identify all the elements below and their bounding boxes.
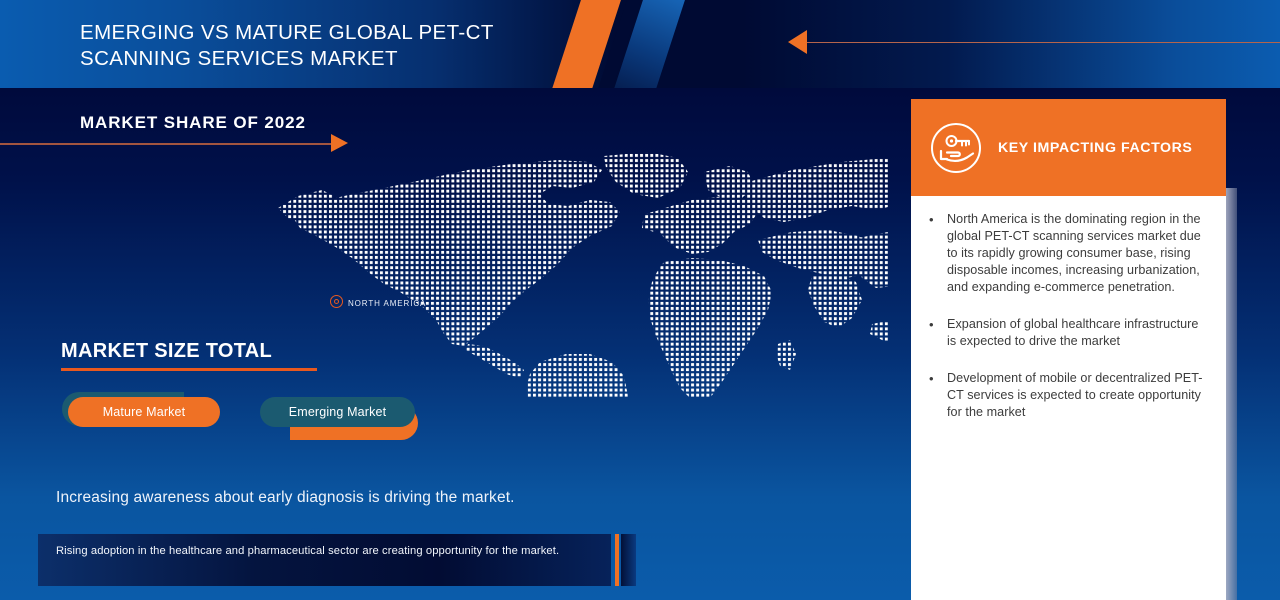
secondary-statement-box [38, 534, 611, 586]
location-ring-icon [330, 295, 345, 310]
list-item-text: Development of mobile or decentralized P… [947, 370, 1208, 421]
map-region-label: NORTH AMERICA [348, 299, 426, 308]
hand-holding-key-icon [929, 121, 983, 175]
page-title: EMERGING VS MATURE GLOBAL PET-CT SCANNIN… [80, 20, 600, 72]
market-share-rule [0, 143, 332, 145]
market-size-title: MARKET SIZE TOTAL [61, 340, 272, 363]
bullet-marker: • [929, 211, 947, 296]
list-item: • Development of mobile or decentralized… [929, 370, 1208, 421]
bullet-marker: • [929, 316, 947, 350]
list-item: • Expansion of global healthcare infrast… [929, 316, 1208, 350]
world-map [272, 148, 888, 398]
infographic-canvas: EMERGING VS MATURE GLOBAL PET-CT SCANNIN… [0, 0, 1280, 600]
key-impacting-factors-panel: KEY IMPACTING FACTORS • North America is… [911, 99, 1226, 600]
arrow-left-icon [788, 30, 807, 54]
header-arrow-line [806, 42, 1280, 44]
panel-title: KEY IMPACTING FACTORS [998, 140, 1192, 156]
market-legend: Mature Market Emerging Market [0, 392, 500, 440]
list-item-text: Expansion of global healthcare infrastru… [947, 316, 1208, 350]
bullet-marker: • [929, 370, 947, 421]
panel-shadow [1226, 188, 1237, 600]
legend-emerging-market[interactable]: Emerging Market [260, 397, 415, 427]
primary-statement: Increasing awareness about early diagnos… [56, 489, 515, 507]
accent-bar [615, 534, 619, 586]
panel-header: KEY IMPACTING FACTORS [911, 99, 1226, 196]
factors-list: • North America is the dominating region… [911, 211, 1226, 441]
market-share-label: MARKET SHARE OF 2022 [80, 113, 306, 133]
market-size-underline [61, 368, 317, 371]
accent-box [621, 534, 636, 586]
list-item-text: North America is the dominating region i… [947, 211, 1208, 296]
header-banner: EMERGING VS MATURE GLOBAL PET-CT SCANNIN… [0, 0, 1280, 88]
list-item: • North America is the dominating region… [929, 211, 1208, 296]
legend-mature-market[interactable]: Mature Market [68, 397, 220, 427]
secondary-statement: Rising adoption in the healthcare and ph… [56, 544, 596, 559]
